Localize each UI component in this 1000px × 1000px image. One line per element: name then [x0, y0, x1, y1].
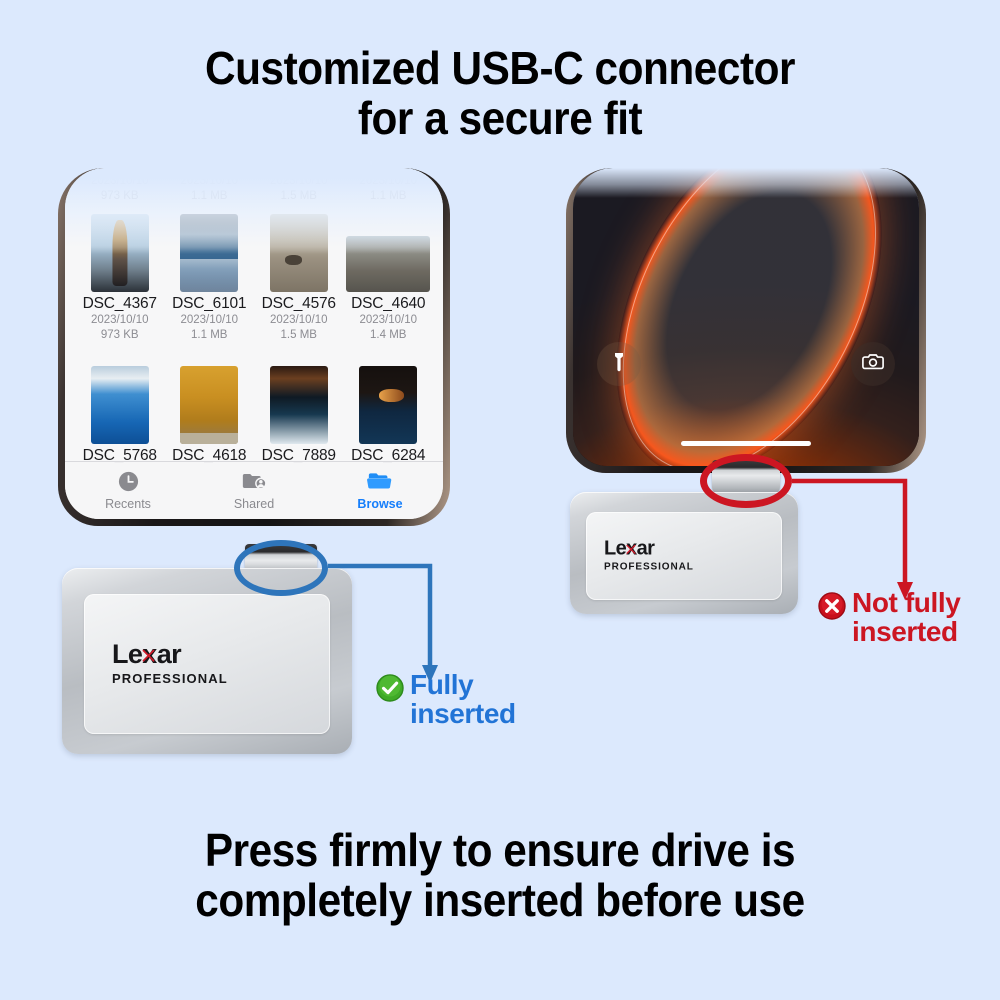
callout-fully-inserted: Fully inserted	[376, 670, 516, 729]
callout-line-1: Fully	[410, 669, 473, 700]
infographic-canvas: Customized USB-C connector for a secure …	[0, 0, 1000, 1000]
leader-line-not-fully-inserted	[0, 0, 1000, 1000]
x-circle-icon	[818, 592, 846, 620]
callout-not-fully-inserted: Not fully inserted	[818, 588, 960, 647]
callout-line-1: Not fully	[852, 587, 960, 618]
callout-line-2: inserted	[852, 617, 960, 646]
highlight-ring-not-fully-inserted	[700, 454, 792, 508]
callout-text: Fully inserted	[410, 670, 516, 729]
callout-text: Not fully inserted	[852, 588, 960, 647]
check-circle-icon	[376, 674, 404, 702]
callout-line-2: inserted	[410, 699, 516, 728]
highlight-ring-fully-inserted	[234, 540, 328, 596]
